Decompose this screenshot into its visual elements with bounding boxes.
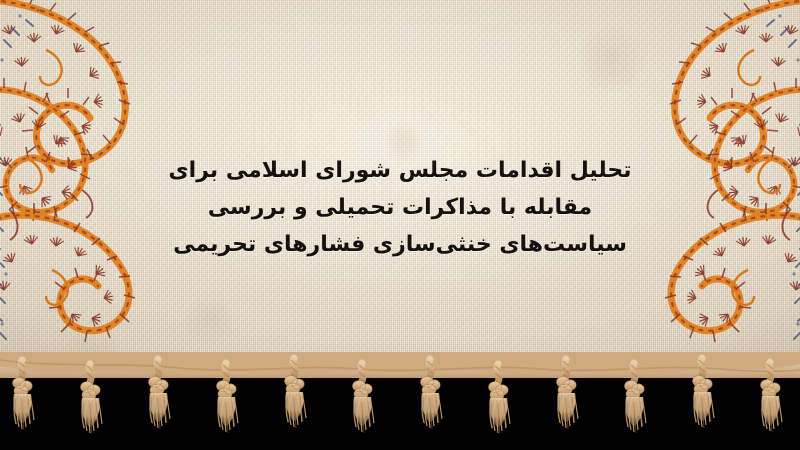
headline-line-1: تحلیل اقدامات مجلس شورای اسلامی برای [0,152,800,189]
banner-image: تحلیل اقدامات مجلس شورای اسلامی برای مقا… [0,0,800,450]
headline-text-block: تحلیل اقدامات مجلس شورای اسلامی برای مقا… [0,152,800,263]
tassel-fringe [0,352,800,450]
headline-line-3: سیاست‌های خنثی‌سازی فشارهای تحریمی [0,226,800,263]
headline-line-2: مقابله با مذاکرات تحمیلی و بررسی [0,189,800,226]
